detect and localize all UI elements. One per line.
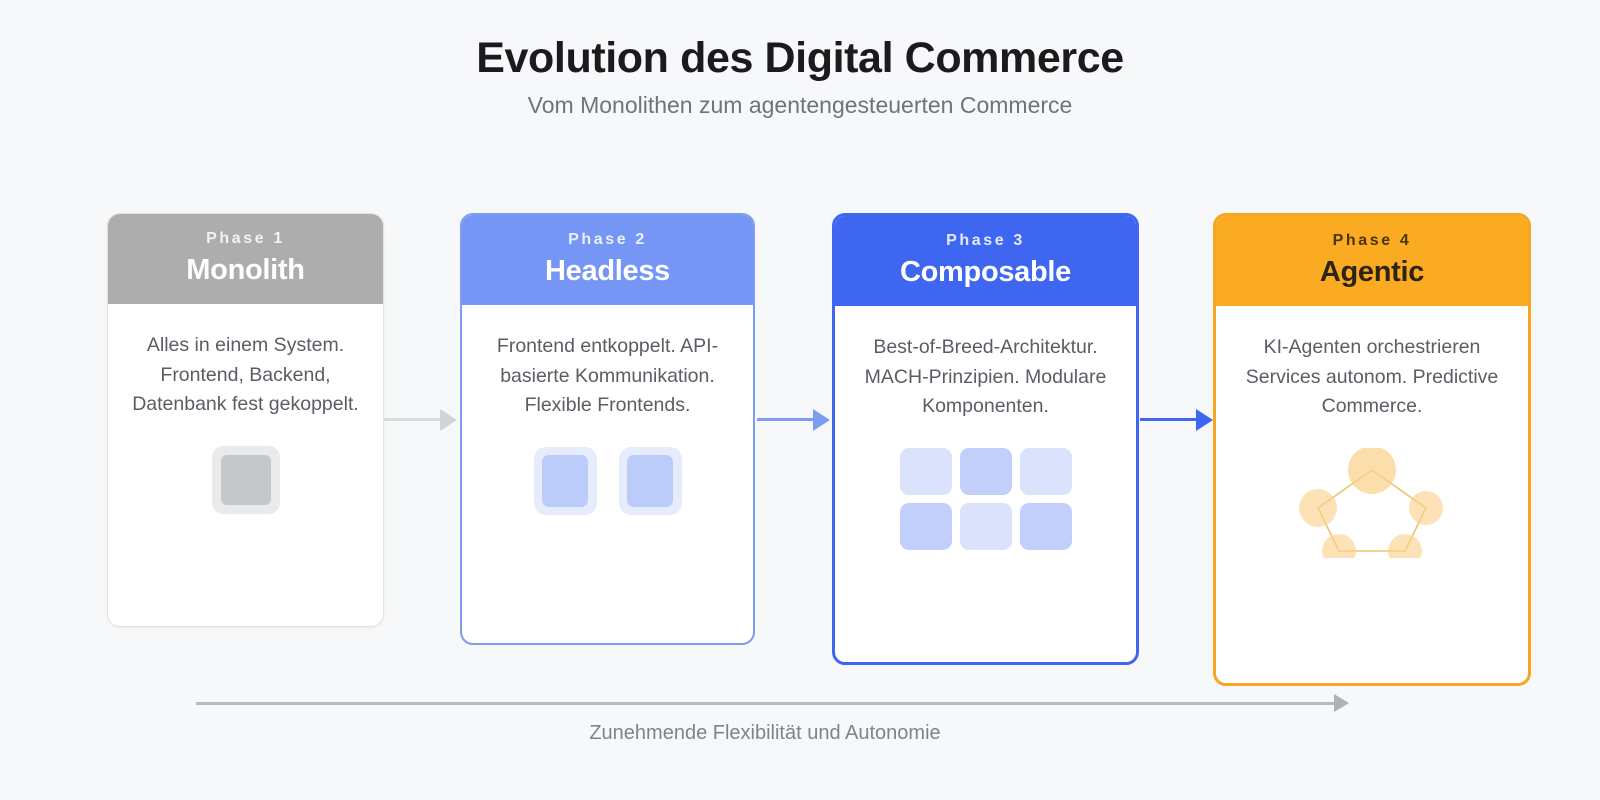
arrow-phase2-to-phase3 bbox=[757, 408, 833, 432]
progression-axis bbox=[196, 694, 1351, 714]
module-tile bbox=[900, 503, 952, 550]
phase-card-body: Frontend entkoppelt. API-basierte Kommun… bbox=[462, 305, 753, 643]
arrow-head-icon bbox=[1196, 409, 1213, 431]
phase-description: Best-of-Breed-Architektur. MACH-Prinzipi… bbox=[853, 333, 1118, 422]
page-subtitle: Vom Monolithen zum agentengesteuerten Co… bbox=[0, 92, 1600, 119]
phase-number-label: Phase 3 bbox=[845, 232, 1126, 250]
phase-card-agentic[interactable]: Phase 4 Agentic KI-Agenten orchestrieren… bbox=[1213, 213, 1531, 686]
phase-card-header: Phase 1 Monolith bbox=[108, 214, 383, 304]
axis-caption: Zunehmende Flexibilität und Autonomie bbox=[0, 722, 1530, 745]
module-tile bbox=[960, 503, 1012, 550]
phase-title: Monolith bbox=[118, 254, 373, 287]
page-title: Evolution des Digital Commerce bbox=[0, 34, 1600, 82]
pentagon-network-icon bbox=[1298, 448, 1446, 558]
block-icon bbox=[534, 447, 597, 515]
phase-visual bbox=[900, 448, 1072, 550]
phase-number-label: Phase 1 bbox=[118, 230, 373, 248]
module-tile bbox=[1020, 448, 1072, 495]
phase-card-composable[interactable]: Phase 3 Composable Best-of-Breed-Archite… bbox=[832, 213, 1139, 665]
axis-line bbox=[196, 702, 1336, 705]
single-block-icon bbox=[212, 446, 280, 514]
phase-card-header: Phase 3 Composable bbox=[835, 216, 1136, 306]
module-tile bbox=[960, 448, 1012, 495]
arrow-head-icon bbox=[813, 409, 830, 431]
phase-card-body: KI-Agenten orchestrieren Services autono… bbox=[1216, 306, 1528, 683]
phase-number-label: Phase 2 bbox=[472, 231, 743, 249]
six-module-grid-icon bbox=[900, 448, 1072, 550]
phase-description: Frontend entkoppelt. API-basierte Kommun… bbox=[480, 332, 735, 421]
arrow-head-icon bbox=[440, 409, 457, 431]
axis-arrow-head-icon bbox=[1334, 694, 1349, 712]
phase-card-header: Phase 4 Agentic bbox=[1216, 216, 1528, 306]
phase-card-headless[interactable]: Phase 2 Headless Frontend entkoppelt. AP… bbox=[460, 213, 755, 645]
phase-title: Headless bbox=[472, 255, 743, 288]
phase-card-monolith[interactable]: Phase 1 Monolith Alles in einem System. … bbox=[107, 213, 384, 627]
phase-description: KI-Agenten orchestrieren Services autono… bbox=[1234, 333, 1510, 422]
arrow-shaft bbox=[384, 418, 442, 421]
arrow-phase1-to-phase2 bbox=[384, 408, 459, 432]
header: Evolution des Digital Commerce Vom Monol… bbox=[0, 34, 1600, 119]
phase-number-label: Phase 4 bbox=[1226, 232, 1518, 250]
two-blocks-icon bbox=[534, 447, 682, 515]
arrow-shaft bbox=[1140, 418, 1198, 421]
module-tile bbox=[1020, 503, 1072, 550]
arrow-phase3-to-phase4 bbox=[1140, 408, 1216, 432]
phase-visual bbox=[1298, 448, 1446, 558]
phase-description: Alles in einem System. Frontend, Backend… bbox=[126, 331, 365, 420]
phase-title: Agentic bbox=[1226, 256, 1518, 289]
phase-visual bbox=[534, 447, 682, 515]
phase-card-body: Alles in einem System. Frontend, Backend… bbox=[108, 304, 383, 626]
phase-card-header: Phase 2 Headless bbox=[462, 215, 753, 305]
phase-title: Composable bbox=[845, 256, 1126, 289]
arrow-shaft bbox=[757, 418, 815, 421]
block-icon bbox=[619, 447, 682, 515]
phase-card-body: Best-of-Breed-Architektur. MACH-Prinzipi… bbox=[835, 306, 1136, 662]
phase-visual bbox=[212, 446, 280, 514]
module-tile bbox=[900, 448, 952, 495]
diagram-canvas: Evolution des Digital Commerce Vom Monol… bbox=[0, 0, 1600, 800]
